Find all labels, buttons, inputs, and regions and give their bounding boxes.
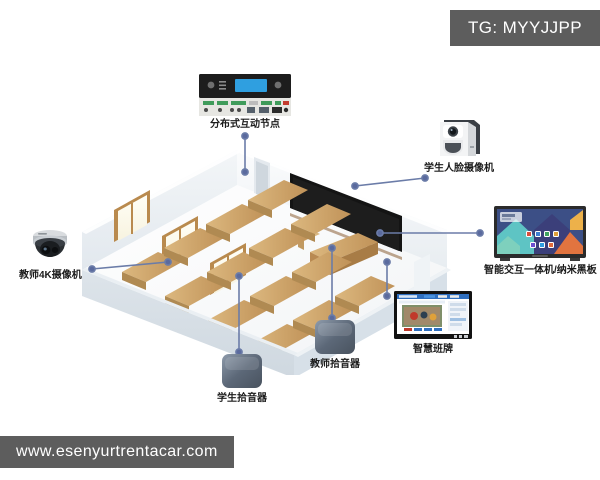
callout-teacher-microphone[interactable]: 教师拾音器 <box>310 318 360 371</box>
site-watermark-badge: www.esenyurtrentacar.com <box>0 436 234 468</box>
tg-watermark-badge: TG: MYYJJPP <box>450 10 600 46</box>
interactive-flat-panel-icon <box>494 206 586 262</box>
callout-label: 学生拾音器 <box>217 393 267 405</box>
class-board-icon <box>394 291 472 341</box>
callout-label: 学生人脸摄像机 <box>424 163 494 175</box>
callout-label: 智慧班牌 <box>413 344 453 356</box>
diagram-canvas: 分布式互动节点 学生人脸摄像机 <box>0 0 600 480</box>
callout-label: 教师拾音器 <box>310 359 360 371</box>
callout-smart-class-board[interactable]: 智慧班牌 <box>394 291 472 356</box>
dome-camera-icon <box>27 227 73 267</box>
callout-student-face-camera[interactable]: 学生人脸摄像机 <box>424 116 494 175</box>
callout-label: 教师4K摄像机 <box>19 270 82 282</box>
callout-distributed-node[interactable]: 分布式互动节点 <box>199 74 291 131</box>
microphone-pad-icon <box>313 318 357 356</box>
callout-label: 智能交互一体机/纳米黑板 <box>484 265 597 277</box>
callout-teacher-4k-camera[interactable]: 教师4K摄像机 <box>19 227 82 282</box>
callout-label: 分布式互动节点 <box>210 119 280 131</box>
callout-interactive-panel[interactable]: 智能交互一体机/纳米黑板 <box>484 206 597 277</box>
rack-node-icon <box>199 74 291 116</box>
callout-student-microphone[interactable]: 学生拾音器 <box>217 352 267 405</box>
microphone-pad-icon <box>220 352 264 390</box>
face-camera-icon <box>434 116 484 160</box>
